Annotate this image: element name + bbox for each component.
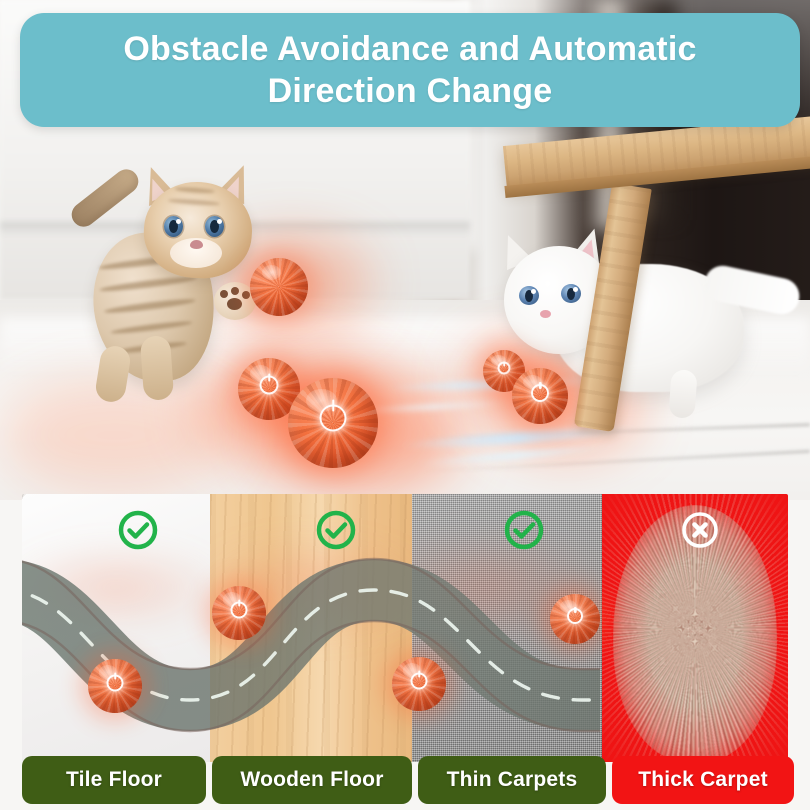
power-icon [231,601,248,618]
power-icon [320,404,347,431]
tabby-hind-leg [94,344,132,404]
white-kitten-eye-right [561,284,581,303]
surface-comparison-strip: Tile Floor Wooden Floor Thin Carpets Thi… [0,494,810,810]
tabby-tail [67,165,143,232]
ball-tabby-target [250,258,308,316]
power-icon [260,376,279,395]
power-icon [411,672,428,689]
tabby-eye-left [164,216,183,237]
power-icon [531,384,549,402]
page-title: Obstacle Avoidance and Automatic Directi… [99,28,720,113]
power-icon [498,362,511,375]
tabby-nose [190,240,203,249]
surface-label-thin-carpets: Thin Carpets [418,756,606,804]
white-kitten-nose [540,310,551,318]
product-feature-graphic: Obstacle Avoidance and Automatic Directi… [0,0,810,810]
tabby-kitten [72,160,262,410]
white-kitten-eye-left [519,286,539,305]
status-icon-thick-carpet [678,508,722,552]
status-icon-thin-carpets [502,508,546,552]
status-icon-wooden-floor [314,508,358,552]
surface-label-wooden-floor: Wooden Floor [212,756,412,804]
path-ball-wooden-floor-upper [212,586,266,640]
surface-label-tile-floor: Tile Floor [22,756,206,804]
path-ball-thin-carpets [550,594,600,644]
path-ball-tile-floor [88,659,142,713]
tabby-eye-right [205,216,224,237]
surface-label-thick-carpet: Thick Carpet [612,756,794,804]
surface-label-row: Tile Floor Wooden Floor Thin Carpets Thi… [22,756,788,804]
power-icon [107,674,124,691]
title-line-2: Direction Change [268,72,553,110]
status-icon-tile-floor [116,508,160,552]
ball-hero-large [288,378,378,468]
power-icon [567,608,583,624]
white-kitten-hind-leg [668,369,697,419]
title-line-1: Obstacle Avoidance and Automatic [123,30,696,68]
tabby-front-leg [140,335,174,401]
path-ball-wooden-floor-lower [392,657,446,711]
ball-near-leg [512,368,568,424]
title-banner: Obstacle Avoidance and Automatic Directi… [20,13,800,127]
